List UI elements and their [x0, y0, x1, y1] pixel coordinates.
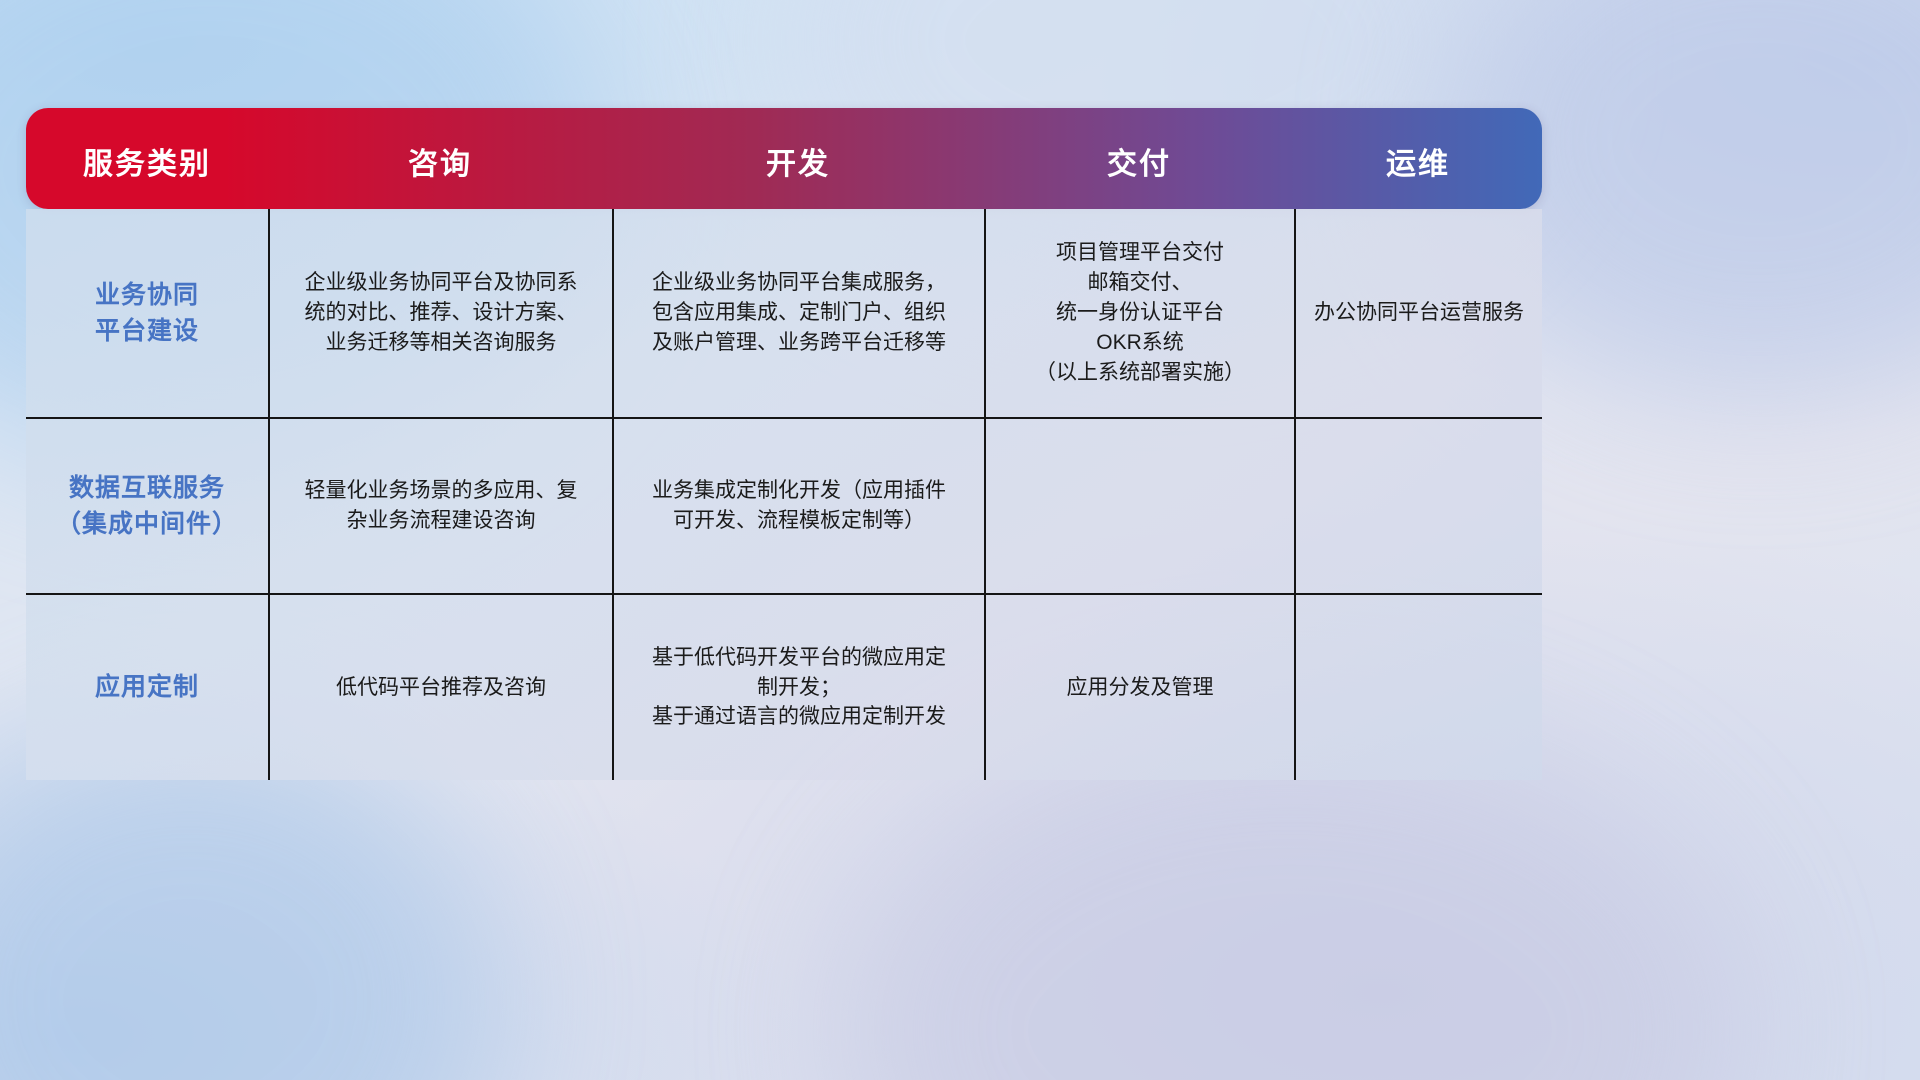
cell-development: 企业级业务协同平台集成服务， 包含应用集成、定制门户、组织 及账户管理、业务跨平…	[612, 209, 984, 417]
table-row: 数据互联服务 （集成中间件） 轻量化业务场景的多应用、复 杂业务流程建设咨询 业…	[26, 417, 1542, 593]
cell-development: 业务集成定制化开发（应用插件 可开发、流程模板定制等）	[612, 419, 984, 593]
service-matrix-table: 服务类别 咨询 开发 交付 运维 业务协同 平台建设 企业级业务协同平台及协同系…	[26, 108, 1542, 780]
table-header-cell-operations: 运维	[1294, 108, 1542, 209]
cell-delivery	[984, 419, 1294, 593]
table-header-cell-consulting: 咨询	[268, 108, 612, 209]
row-category-label: 业务协同 平台建设	[26, 209, 268, 417]
table-row: 业务协同 平台建设 企业级业务协同平台及协同系 统的对比、推荐、设计方案、 业务…	[26, 209, 1542, 417]
table-header-cell-category: 服务类别	[26, 108, 268, 209]
table-header-row: 服务类别 咨询 开发 交付 运维	[26, 108, 1542, 209]
table-header-cell-delivery: 交付	[984, 108, 1294, 209]
row-category-label: 应用定制	[26, 595, 268, 780]
cell-delivery: 项目管理平台交付 邮箱交付、 统一身份认证平台 OKR系统 （以上系统部署实施）	[984, 209, 1294, 417]
cell-operations: 办公协同平台运营服务	[1294, 209, 1542, 417]
table-body: 业务协同 平台建设 企业级业务协同平台及协同系 统的对比、推荐、设计方案、 业务…	[26, 209, 1542, 780]
row-category-label: 数据互联服务 （集成中间件）	[26, 419, 268, 593]
table-header-cell-development: 开发	[612, 108, 984, 209]
cell-operations	[1294, 595, 1542, 780]
cell-development: 基于低代码开发平台的微应用定 制开发； 基于通过语言的微应用定制开发	[612, 595, 984, 780]
cell-consulting: 轻量化业务场景的多应用、复 杂业务流程建设咨询	[268, 419, 612, 593]
cell-delivery: 应用分发及管理	[984, 595, 1294, 780]
cell-operations	[1294, 419, 1542, 593]
cell-consulting: 低代码平台推荐及咨询	[268, 595, 612, 780]
cell-consulting: 企业级业务协同平台及协同系 统的对比、推荐、设计方案、 业务迁移等相关咨询服务	[268, 209, 612, 417]
table-row: 应用定制 低代码平台推荐及咨询 基于低代码开发平台的微应用定 制开发； 基于通过…	[26, 593, 1542, 780]
